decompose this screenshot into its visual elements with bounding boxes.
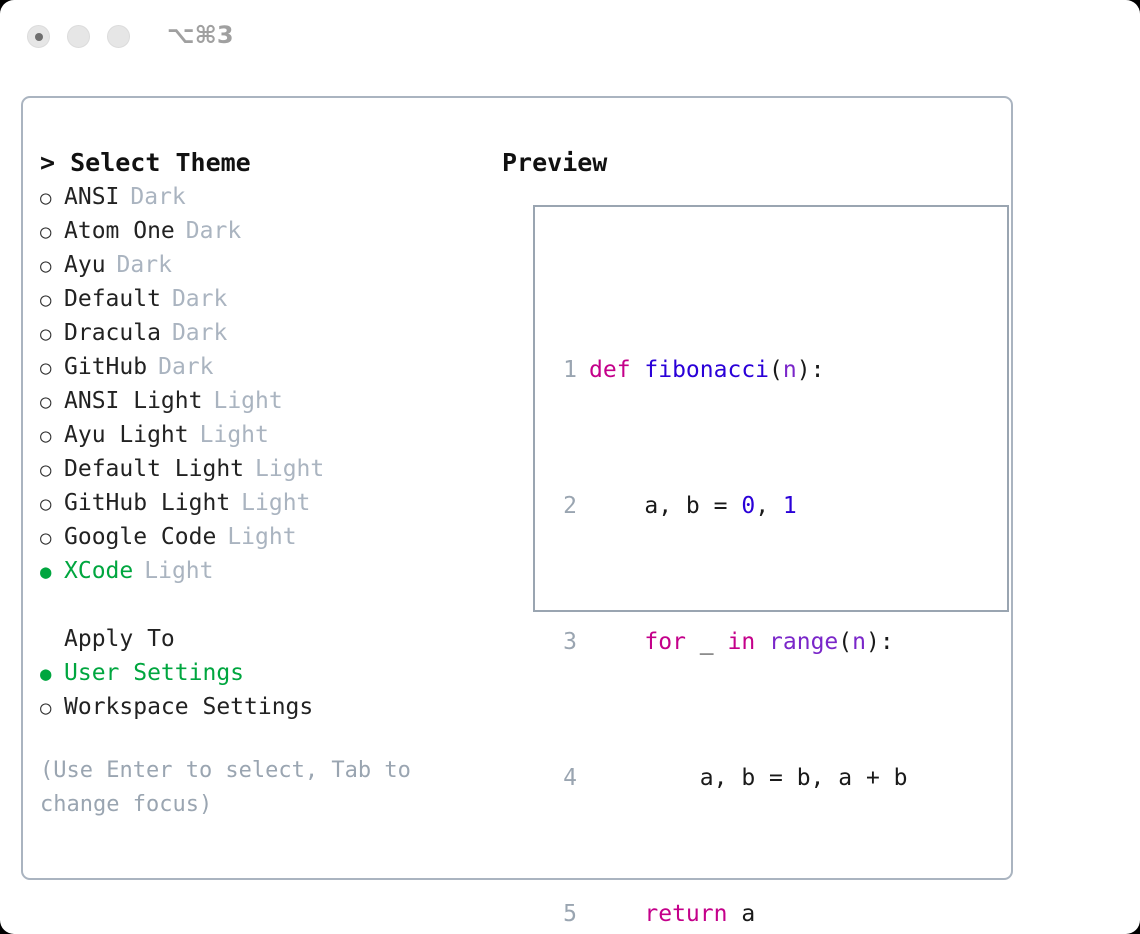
apply-to-heading: Apply To [40,622,490,656]
keyboard-hint-text: (Use Enter to select, Tab to change focu… [40,754,440,822]
theme-name: Google Code [64,520,216,554]
theme-name: Dracula [64,316,161,350]
theme-name: ANSI Light [64,384,202,418]
code-token: a, b = b, a + b [589,761,908,795]
theme-name: Ayu Light [64,418,189,452]
theme-category: Dark [172,282,227,316]
theme-list-item-ansi-light[interactable]: ○ ANSI Light Light [40,384,490,418]
theme-list-item-github-dark[interactable]: ○ GitHub Dark [40,350,490,384]
radio-icon: ○ [40,385,64,419]
radio-selected-icon: ● [40,657,64,691]
code-token: , [755,489,783,523]
keyboard-shortcut-label: ⌥⌘3 [167,21,234,49]
code-token: range [769,625,838,659]
code-line: 2 a, b = 0, 1 [549,489,935,523]
theme-category: Dark [172,316,227,350]
window-control-record-button[interactable] [27,25,50,48]
code-token [589,625,644,659]
apply-to-label: User Settings [64,656,244,690]
theme-name: Ayu [64,248,106,282]
line-number: 4 [549,761,577,795]
theme-category: Dark [186,214,241,248]
list-spacer [40,588,490,622]
code-token: a [741,897,755,931]
select-theme-heading: > Select Theme [40,146,490,180]
radio-icon: ○ [40,249,64,283]
theme-category: Dark [158,350,213,384]
radio-icon: ○ [40,453,64,487]
apply-to-list[interactable]: ● User Settings ○ Workspace Settings [40,656,490,724]
code-token: ): [866,625,894,659]
code-line: 5 return a [549,897,935,931]
theme-list-item-atom-one-dark[interactable]: ○ Atom One Dark [40,214,490,248]
line-number: 5 [549,897,577,931]
theme-category: Light [144,554,213,588]
main-panel: > Select Theme ○ ANSI Dark ○ Atom One Da… [21,96,1013,880]
theme-list-item-default-light[interactable]: ○ Default Light Light [40,452,490,486]
code-token: ( [769,353,783,387]
apply-to-option-workspace-settings[interactable]: ○ Workspace Settings [40,690,490,724]
line-number: 3 [549,625,577,659]
radio-icon: ○ [40,487,64,521]
code-token: 1 [783,489,797,523]
code-line: 3 for _ in range(n): [549,625,935,659]
code-token: ): [797,353,825,387]
code-token: for [644,625,699,659]
theme-list-item-github-light[interactable]: ○ GitHub Light Light [40,486,490,520]
radio-icon: ○ [40,181,64,215]
line-number: 2 [549,489,577,523]
preview-column: Preview 1 def fibonacci(n): 2 a, b = 0, … [502,146,992,180]
radio-icon: ○ [40,351,64,385]
code-token: ( [838,625,852,659]
theme-category: Light [227,520,296,554]
line-number: 1 [549,353,577,387]
code-token: n [852,625,866,659]
theme-list-item-ayu-light[interactable]: ○ Ayu Light Light [40,418,490,452]
app-window: ⌥⌘3 > Select Theme ○ ANSI Dark ○ Atom On… [0,0,1140,934]
code-preview: 1 def fibonacci(n): 2 a, b = 0, 1 3 for … [549,251,935,934]
theme-list-item-dracula-dark[interactable]: ○ Dracula Dark [40,316,490,350]
apply-to-option-user-settings[interactable]: ● User Settings [40,656,490,690]
code-token: return [644,897,741,931]
window-control-third-button[interactable] [107,25,130,48]
radio-icon: ○ [40,215,64,249]
preview-heading: Preview [502,146,992,180]
theme-list-item-default-dark[interactable]: ○ Default Dark [40,282,490,316]
apply-to-label: Workspace Settings [64,690,313,724]
theme-name: ANSI [64,180,119,214]
window-controls [27,25,130,48]
code-line: 4 a, b = b, a + b [549,761,935,795]
theme-category: Light [255,452,324,486]
radio-icon: ○ [40,283,64,317]
theme-category: Dark [130,180,185,214]
theme-list-item-google-code[interactable]: ○ Google Code Light [40,520,490,554]
code-token: fibonacci [644,353,769,387]
code-token: def [589,353,644,387]
preview-panel: 1 def fibonacci(n): 2 a, b = 0, 1 3 for … [533,205,1009,612]
radio-icon: ○ [40,521,64,555]
theme-name: GitHub Light [64,486,230,520]
theme-category: Dark [117,248,172,282]
code-token: a, b = [589,489,741,523]
window-control-second-button[interactable] [67,25,90,48]
theme-name: Default [64,282,161,316]
theme-category: Light [200,418,269,452]
code-token: 0 [741,489,755,523]
radio-icon: ○ [40,691,64,725]
code-line: 1 def fibonacci(n): [549,353,935,387]
theme-category: Light [241,486,310,520]
radio-icon: ○ [40,419,64,453]
theme-list-item-ayu-dark[interactable]: ○ Ayu Dark [40,248,490,282]
code-token: in [727,625,769,659]
record-dot-icon [35,33,43,41]
theme-category: Light [213,384,282,418]
code-token: n [783,353,797,387]
theme-name: Default Light [64,452,244,486]
theme-list-item-xcode[interactable]: ● XCode Light [40,554,490,588]
theme-name: Atom One [64,214,175,248]
radio-selected-icon: ● [40,555,64,589]
theme-list-item-ansi-dark[interactable]: ○ ANSI Dark [40,180,490,214]
theme-selector-column: > Select Theme ○ ANSI Dark ○ Atom One Da… [40,146,490,822]
code-token: _ [700,625,728,659]
theme-list[interactable]: ○ ANSI Dark ○ Atom One Dark ○ Ayu Dark [40,180,490,588]
theme-name: XCode [64,554,133,588]
radio-icon: ○ [40,317,64,351]
code-token [589,897,644,931]
theme-name: GitHub [64,350,147,384]
title-bar: ⌥⌘3 [0,0,1140,78]
